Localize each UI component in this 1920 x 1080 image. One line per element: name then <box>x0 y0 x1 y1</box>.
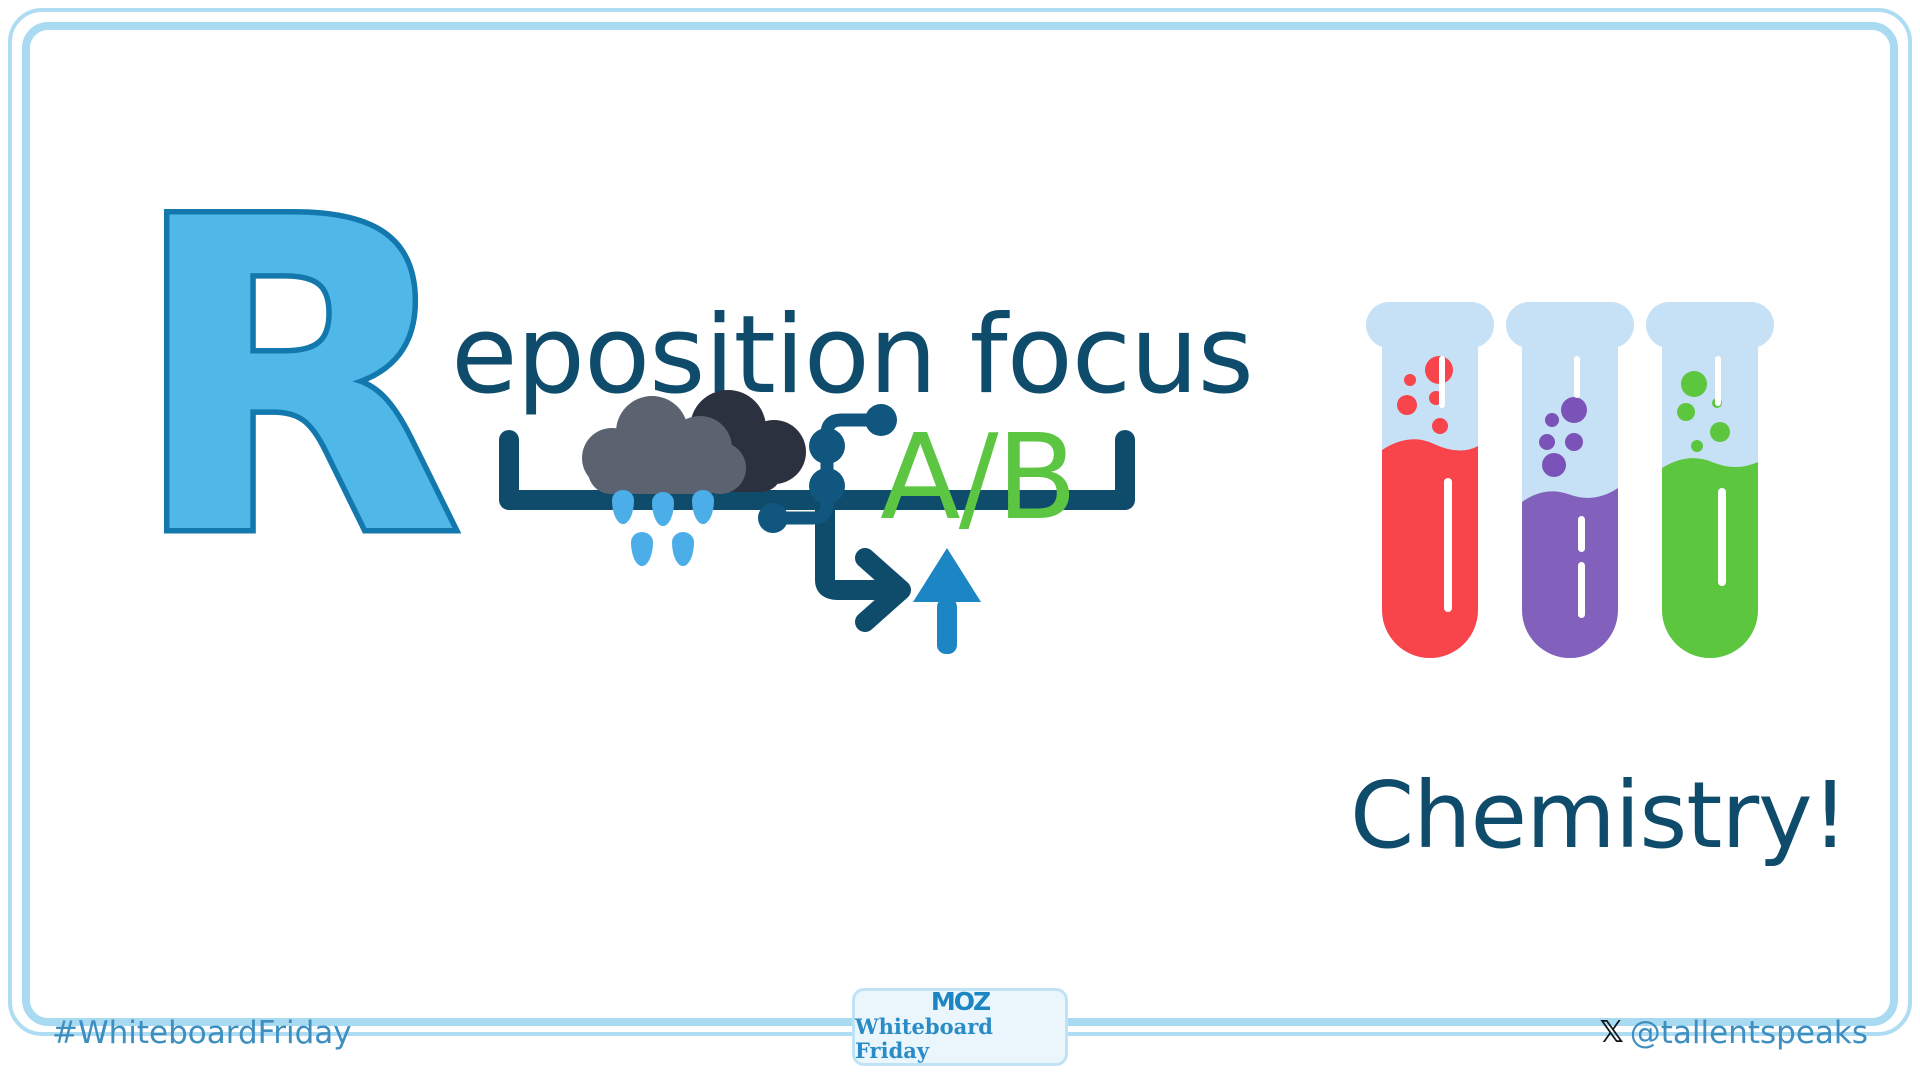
raindrop-2 <box>652 492 674 526</box>
test-tube-green <box>1646 302 1774 672</box>
tube-highlight-green <box>1715 356 1721 406</box>
tube-shine-green <box>1718 488 1726 586</box>
branch-node-mid-lower <box>809 468 845 504</box>
branch-node-start <box>758 503 788 533</box>
footer-hashtag: #WhiteboardFriday <box>52 1015 352 1051</box>
moz-badge-subtitle: Whiteboard Friday <box>855 1015 1065 1063</box>
moz-whiteboard-friday-badge[interactable]: MOZ Whiteboard Friday <box>852 988 1068 1066</box>
tube-liquid-purple <box>1522 488 1618 682</box>
tube-shine-red <box>1444 478 1452 612</box>
moz-brand-text: MOZ <box>931 989 989 1014</box>
tube-shine-purple-2 <box>1578 562 1585 618</box>
tube-shine-purple-1 <box>1578 516 1585 552</box>
x-twitter-icon: 𝕏 <box>1600 1018 1624 1048</box>
tube-highlight-purple <box>1574 356 1580 398</box>
test-tube-red <box>1366 302 1494 666</box>
tube-liquid-green <box>1662 458 1758 672</box>
footer-handle-text: @tallentspeaks <box>1630 1015 1868 1051</box>
whiteboard-slide: R eposition focus <box>0 0 1920 1080</box>
tube-highlight-red <box>1439 356 1445 408</box>
chemistry-label: Chemistry! <box>1350 762 1847 869</box>
test-tubes-group <box>1360 300 1780 705</box>
arrow-up-icon <box>913 548 981 654</box>
test-tube-purple <box>1506 302 1634 682</box>
drop-cap-letter: R <box>130 213 451 548</box>
illustration-group: A/B <box>540 390 1240 730</box>
ab-test-label: A/B <box>880 418 1075 536</box>
branch-node-mid-upper <box>809 428 845 464</box>
footer-handle: 𝕏 @tallentspeaks <box>1600 1015 1868 1051</box>
tube-liquid-red <box>1382 439 1478 666</box>
